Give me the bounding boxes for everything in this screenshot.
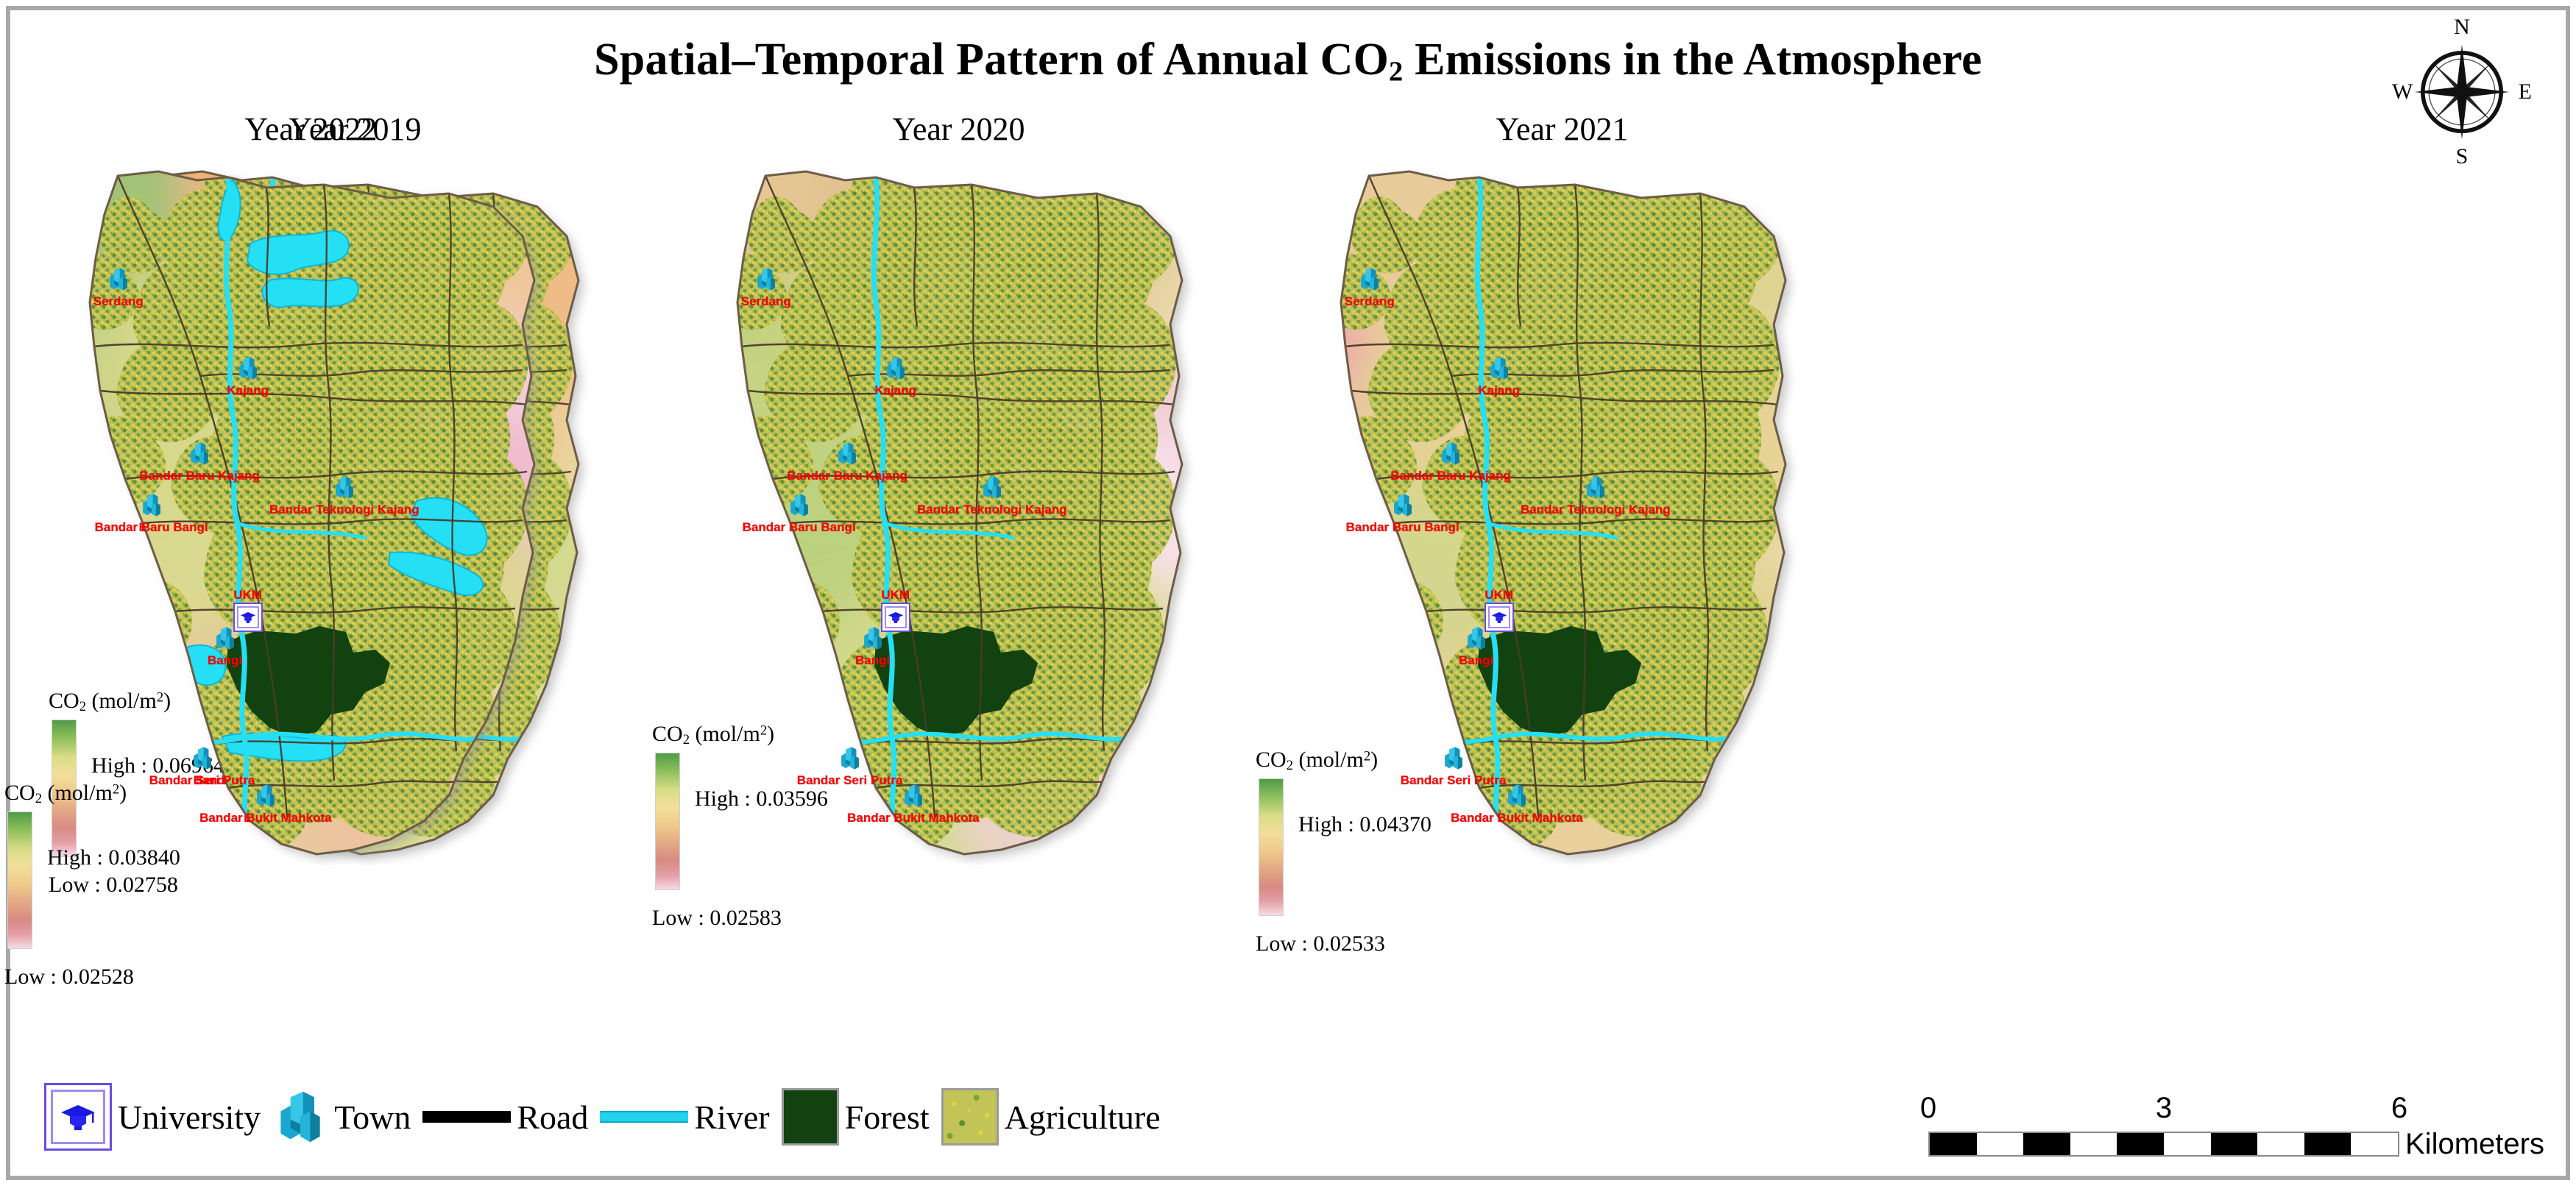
legend-item-town: Town [272,1089,422,1145]
town-buildings-icon [332,475,357,500]
map-marker-town-6[interactable] [1464,626,1489,655]
colorbar-high-2020: High : 0.03596 [695,786,828,812]
map-label-0: Serdang [1345,294,1395,309]
scale-bar: 0 3 6 Kilometers [1928,1092,2444,1157]
map-marker-university-ukm[interactable] [881,603,910,632]
map-canvas-2022: SerdangKajangBandar Baru KajangBandar Te… [0,148,622,994]
university-swatch [44,1083,112,1151]
university-marker [1485,603,1514,632]
map-label-5: UKM [881,588,910,603]
town-buildings-icon [883,355,908,380]
legend-label-agriculture: Agriculture [1005,1098,1161,1137]
legend-label-road: Road [517,1098,588,1137]
town-buildings-icon [901,783,926,808]
legend-item-forest: Forest [782,1088,941,1146]
colorbar-legend-2022: CO2 (mol/m2)High : 0.03840Low : 0.02528 [4,781,255,990]
map-marker-town-7[interactable] [190,745,215,774]
map-marker-town-0[interactable] [1357,266,1382,295]
town-buildings-icon [272,1089,328,1145]
town-buildings-icon [1487,355,1512,380]
town-buildings-icon [213,626,238,651]
map-marker-town-0[interactable] [106,266,131,295]
graduation-cap-icon [1488,606,1510,628]
panel-year-label-2022: Year 2022 [0,110,622,148]
university-marker [233,603,263,632]
compass-label-south: S [2456,144,2469,169]
legend-item-road: Road [422,1098,600,1137]
legend-label-river: River [694,1098,769,1137]
map-label-2: Bandar Baru Kajang [1390,469,1510,483]
university-marker [881,603,910,632]
graduation-cap-icon [51,1090,105,1144]
map-label-5: UKM [233,588,262,603]
graduation-cap-icon [237,606,259,628]
map-marker-town-3[interactable] [1583,475,1608,504]
colorbar-low-2021: Low : 0.02533 [1256,931,1506,956]
river-line-icon [600,1111,688,1123]
page-title: Spatial–Temporal Pattern of Annual CO2 E… [0,34,2576,88]
scale-bar-segments [1928,1132,2399,1157]
map-label-6: Bangi [1459,653,1493,668]
map-marker-town-3[interactable] [332,475,357,504]
town-buildings-icon [860,626,885,651]
panel-year-label-2021: Year 2021 [1251,110,1873,148]
map-panel-2021: Year 2021SerdangKajangBandar Baru Kajang… [1251,110,1873,1008]
map-marker-town-6[interactable] [860,626,885,655]
colorbar-low-2020: Low : 0.02583 [652,906,902,931]
compass-needle-icon [2410,40,2513,143]
map-label-6: Bangi [855,653,890,668]
map-marker-town-8[interactable] [1504,783,1529,812]
panel-year-label-2020: Year 2020 [648,110,1270,148]
map-label-0: Serdang [93,294,144,309]
colorbar-gradient-2022 [7,812,32,949]
map-label-1: Kajang [874,383,916,398]
town-buildings-icon [1390,492,1415,517]
colorbar-high-2021: High : 0.04370 [1298,812,1432,837]
map-marker-university-ukm[interactable] [1485,603,1514,632]
legend-label-university: University [118,1098,261,1137]
road-line-icon [422,1111,511,1123]
map-marker-town-2[interactable] [187,441,212,469]
compass-rose-icon: N S W E [2392,15,2532,169]
map-marker-town-6[interactable] [213,626,238,655]
map-label-2: Bandar Baru Kajang [787,469,907,483]
scale-bar-ticks: 0 3 6 [1928,1092,2444,1132]
map-panel-2020: Year 2020SerdangKajangBandar Baru Kajang… [648,110,1270,1008]
map-marker-town-4[interactable] [787,492,812,521]
scale-tick-1: 3 [2156,1092,2172,1125]
map-marker-town-3[interactable] [980,475,1005,504]
map-canvas-2020: SerdangKajangBandar Baru KajangBandar Te… [648,148,1270,994]
town-buildings-icon [1357,266,1382,291]
colorbar-gradient-2021 [1259,778,1284,916]
map-marker-town-1[interactable] [883,355,908,384]
town-buildings-icon [1464,626,1489,651]
title-subscript: 2 [1389,56,1403,87]
map-label-6: Bangi [208,653,242,668]
colorbar-legend-2020: CO2 (mol/m2)High : 0.03596Low : 0.02583 [652,722,902,931]
colorbar-units-2022: CO2 (mol/m2) [4,781,255,807]
map-panel-2022: Year 2022SerdangKajangBandar Baru Kajang… [0,110,622,1008]
legend-item-agriculture: Agriculture [941,1088,1172,1146]
colorbar-low-2022: Low : 0.02528 [4,965,255,990]
scale-tick-0: 0 [1920,1092,1936,1125]
legend-label-forest: Forest [845,1098,930,1137]
map-marker-town-0[interactable] [754,266,779,295]
compass-label-north: N [2454,15,2470,40]
map-label-5: UKM [1485,588,1513,603]
legend-label-town: Town [334,1098,411,1137]
map-label-4: Bandar Baru Bangi [1346,520,1459,535]
colorbar-units-2020: CO2 (mol/m2) [652,722,902,748]
town-buildings-icon [139,492,164,517]
town-buildings-icon [980,475,1005,500]
graduation-cap-icon [885,606,907,628]
map-label-2: Bandar Baru Kajang [139,469,259,483]
map-marker-town-2[interactable] [1438,441,1463,469]
town-buildings-icon [236,355,261,380]
map-label-1: Kajang [1478,383,1520,398]
compass-label-east: E [2519,79,2532,104]
scale-bar-units: Kilometers [2405,1128,2544,1161]
colorbar-units-2021: CO2 (mol/m2) [1256,748,1506,774]
town-buildings-icon [187,441,212,466]
town-buildings-icon [190,745,215,770]
map-marker-town-4[interactable] [1390,492,1415,521]
map-marker-town-1[interactable] [1487,355,1512,384]
map-label-3: Bandar Teknologi Kajang [269,503,420,517]
colorbar-high-2022: High : 0.03840 [47,845,180,870]
map-marker-town-4[interactable] [139,492,164,521]
town-buildings-icon [106,266,131,291]
town-buildings-icon [1583,475,1608,500]
scale-tick-2: 6 [2391,1092,2407,1125]
title-text-tail: Emissions in the Atmosphere [1403,35,1981,85]
town-buildings-icon [1438,441,1463,466]
agriculture-swatch-icon [941,1088,999,1146]
map-label-4: Bandar Baru Bangi [95,520,208,535]
town-buildings-icon [787,492,812,517]
map-label-3: Bandar Teknologi Kajang [1521,503,1671,517]
map-legend: University Town Road River [44,1073,1172,1161]
colorbar-legend-2021: CO2 (mol/m2)High : 0.04370Low : 0.02533 [1256,748,1506,956]
map-marker-town-8[interactable] [901,783,926,812]
town-buildings-icon [1504,783,1529,808]
town-buildings-icon [253,783,278,808]
colorbar-gradient-2020 [655,753,680,890]
figure-root: Spatial–Temporal Pattern of Annual CO2 E… [0,0,2576,1186]
map-marker-university-ukm[interactable] [233,603,263,632]
map-label-0: Serdang [741,294,791,309]
town-buildings-icon [835,441,860,466]
map-marker-town-2[interactable] [835,441,860,469]
map-label-3: Bandar Teknologi Kajang [917,503,1067,517]
map-label-4: Bandar Baru Bangi [743,520,856,535]
map-canvas-2021: SerdangKajangBandar Baru KajangBandar Te… [1251,148,1873,994]
map-marker-town-8[interactable] [253,783,278,812]
town-buildings-icon [754,266,779,291]
legend-item-university: University [44,1083,272,1151]
forest-swatch-icon [782,1088,839,1146]
legend-item-river: River [600,1098,781,1137]
map-marker-town-1[interactable] [236,355,261,384]
map-label-1: Kajang [227,383,269,398]
title-text-main: Spatial–Temporal Pattern of Annual CO [594,35,1389,85]
